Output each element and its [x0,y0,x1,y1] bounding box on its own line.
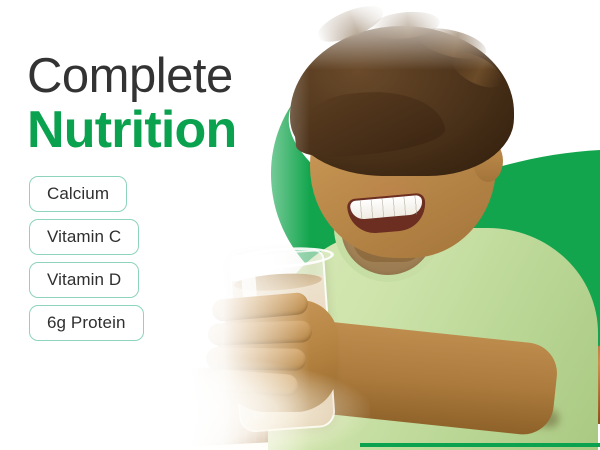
bottom-accent-rule [360,443,600,447]
headline-line-complete: Complete [27,53,236,100]
benefit-pill-vitamin-c: Vitamin C [29,219,139,255]
benefit-pill-protein: 6g Protein [29,305,144,341]
benefit-pill-calcium: Calcium [29,176,127,212]
benefit-pill-vitamin-d: Vitamin D [29,262,139,298]
nutrition-banner: Complete Nutrition Calcium Vitamin C Vit… [0,0,600,450]
boy-teeth [350,195,423,220]
benefit-pill-list: Calcium Vitamin C Vitamin D 6g Protein [29,176,144,341]
page-title: Complete Nutrition [27,53,236,156]
headline-line-nutrition: Nutrition [27,106,236,156]
boy-drinking-milk-photo [190,0,600,450]
photo-top-fade [190,0,600,70]
